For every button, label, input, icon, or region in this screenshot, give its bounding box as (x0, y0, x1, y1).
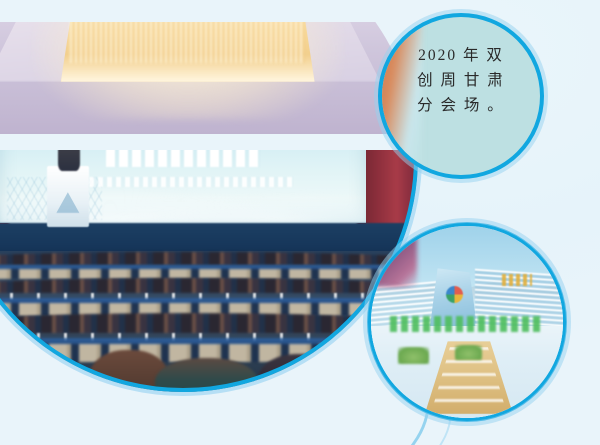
render-planting-right (455, 345, 482, 360)
render-photo-overlap (367, 222, 417, 287)
conference-hall-photo-top (0, 0, 418, 392)
image-canvas: 2020 年 双 创 周 甘 肃 分 会 场 。 (0, 0, 600, 445)
render-building-sign (502, 274, 533, 286)
caption-bubble: 2020 年 双 创 周 甘 肃 分 会 场 。 (378, 13, 544, 179)
caption-text: 2020 年 双 创 周 甘 肃 分 会 场 。 (382, 43, 540, 118)
render-emblem-icon (446, 286, 463, 303)
render-overlay-slogan (390, 316, 544, 331)
render-planting-left (398, 347, 429, 364)
caption-line-3: 分 会 场 。 (404, 93, 518, 118)
caption-line-2: 创 周 甘 肃 (404, 68, 518, 93)
innovation-park-render (367, 222, 567, 422)
photo-content-top (0, 0, 418, 392)
caption-line-1: 2020 年 双 (404, 43, 518, 68)
